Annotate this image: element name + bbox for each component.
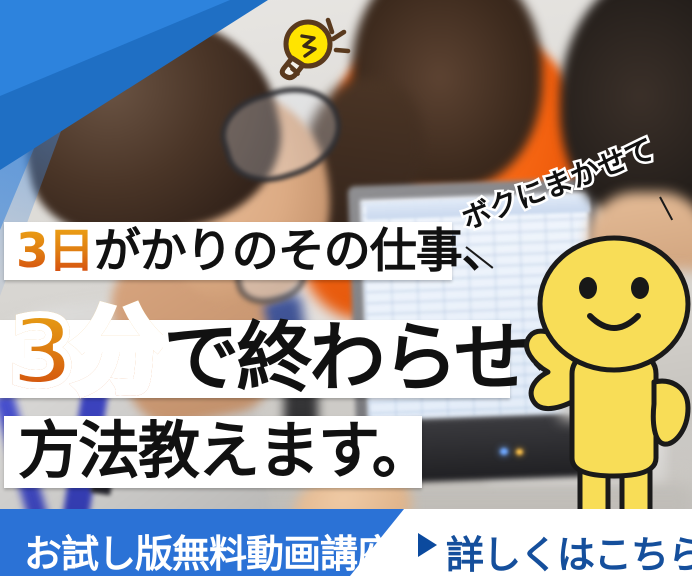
cta-primary-label: お試し版無料動画講座 [24, 523, 394, 576]
headline-line-1: 3日がかりのその仕事、 [16, 228, 508, 275]
mascot-left-eye [579, 277, 597, 299]
mascot-right-arm [653, 381, 688, 444]
corner-accent-light [0, 0, 230, 96]
mascot-character [496, 232, 692, 544]
headline-number-3minutes: 3分 [10, 298, 163, 407]
headline-line-1-rest: がかりのその仕事、 [94, 224, 508, 279]
triangle-right-icon [418, 533, 437, 557]
mascot-right-eye [631, 277, 649, 299]
cta-link-label[interactable]: 詳しくはこちら [446, 524, 692, 576]
ad-banner: 3日がかりのその仕事、 3分で終わらせる 方法教えます。 ボクにまかせて お試し… [0, 0, 692, 576]
headline-number-3days: 3日 [16, 224, 94, 279]
cta-bar[interactable]: お試し版無料動画講座 詳しくはこちら [0, 509, 692, 576]
headline-line-3: 方法教えます。 [18, 420, 432, 482]
mascot-head [540, 238, 688, 370]
lightbulb-icon [262, 6, 358, 86]
